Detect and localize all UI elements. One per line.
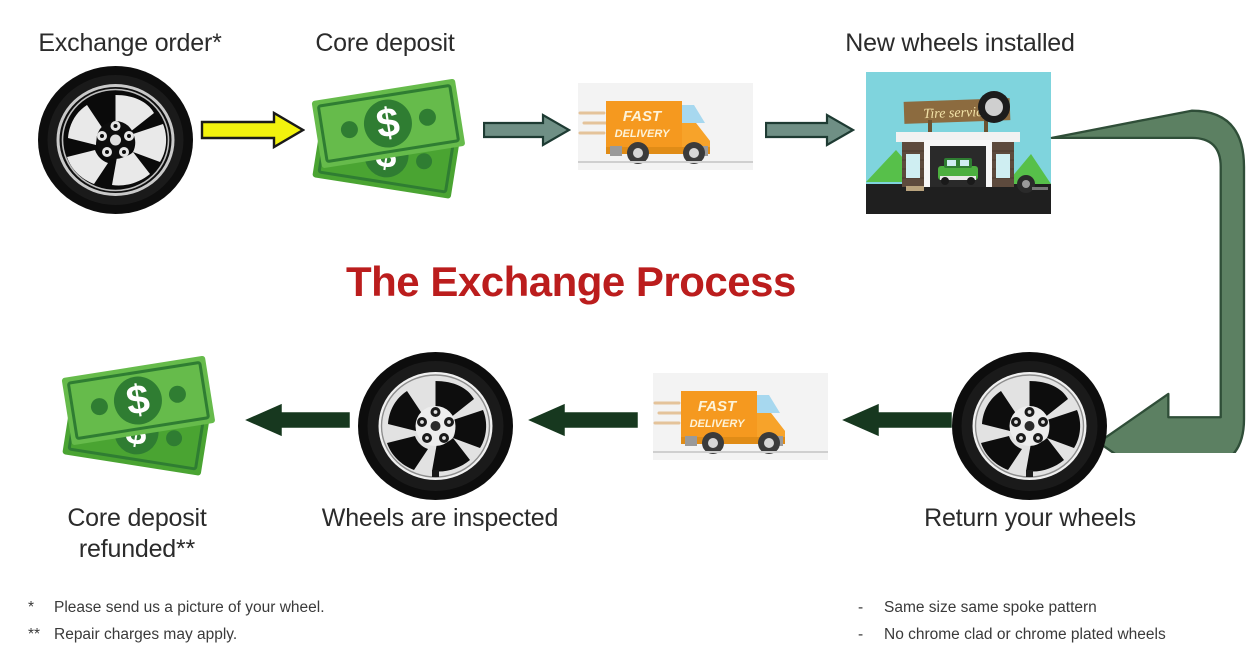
footnote-left-2-text: Repair charges may apply. xyxy=(54,621,237,648)
truck-text-line1: FAST xyxy=(623,108,663,125)
cash-bills-icon-deposit: $ $ xyxy=(305,75,480,210)
cash-bills-icon-refund: $ $ xyxy=(55,352,230,487)
arrow-deposit-to-truck xyxy=(483,112,571,153)
step-label-exchange-order: Exchange order* xyxy=(0,28,260,59)
wheel-silver-rim-icon-inspected xyxy=(358,352,513,500)
wheel-silver-rim-icon-return xyxy=(952,352,1107,500)
arrow-order-to-deposit xyxy=(200,110,305,155)
svg-text:FAST: FAST xyxy=(698,398,738,415)
delivery-truck-icon-outbound: FAST DELIVERY xyxy=(578,83,753,170)
footnotes-left: * Please send us a picture of your wheel… xyxy=(28,594,325,648)
footnote-right-2-text: No chrome clad or chrome plated wheels xyxy=(884,621,1166,648)
tire-service-shop-icon: Tire service xyxy=(866,72,1051,219)
step-label-return-your-wheels: Return your wheels xyxy=(890,503,1170,534)
footnote-left-1-text: Please send us a picture of your wheel. xyxy=(54,594,325,621)
arrow-truck-to-shop xyxy=(765,112,855,153)
step-label-new-wheels-installed: New wheels installed xyxy=(815,28,1105,59)
diagram-title: The Exchange Process xyxy=(346,258,796,306)
arrow-truck-to-inspected xyxy=(528,402,638,443)
truck-text-line2: DELIVERY xyxy=(615,128,671,140)
footnote-left-2-mark: ** xyxy=(28,621,54,648)
footnote-right-2-mark: - xyxy=(858,621,884,648)
step-label-core-deposit: Core deposit xyxy=(275,28,495,59)
delivery-truck-icon-inbound: FAST DELIVERY xyxy=(653,373,828,460)
arrow-inspected-to-refund xyxy=(245,402,350,443)
wheel-black-rim-icon xyxy=(38,66,193,214)
arrow-return-to-truck xyxy=(842,402,952,443)
footnote-right-1-text: Same size same spoke pattern xyxy=(884,594,1097,621)
svg-text:DELIVERY: DELIVERY xyxy=(690,418,746,430)
footnote-right-1: - Same size same spoke pattern xyxy=(858,594,1166,621)
exchange-process-diagram: Exchange order* Core deposit New wheels … xyxy=(0,0,1250,666)
footnote-left-1: * Please send us a picture of your wheel… xyxy=(28,594,325,621)
footnote-right-2: - No chrome clad or chrome plated wheels xyxy=(858,621,1166,648)
footnote-left-1-mark: * xyxy=(28,594,54,621)
footnotes-right: - Same size same spoke pattern - No chro… xyxy=(858,594,1166,648)
footnote-left-2: ** Repair charges may apply. xyxy=(28,621,325,648)
step-label-wheels-inspected: Wheels are inspected xyxy=(290,503,590,534)
step-label-core-deposit-refunded: Core deposit refunded** xyxy=(22,503,252,565)
footnote-right-1-mark: - xyxy=(858,594,884,621)
